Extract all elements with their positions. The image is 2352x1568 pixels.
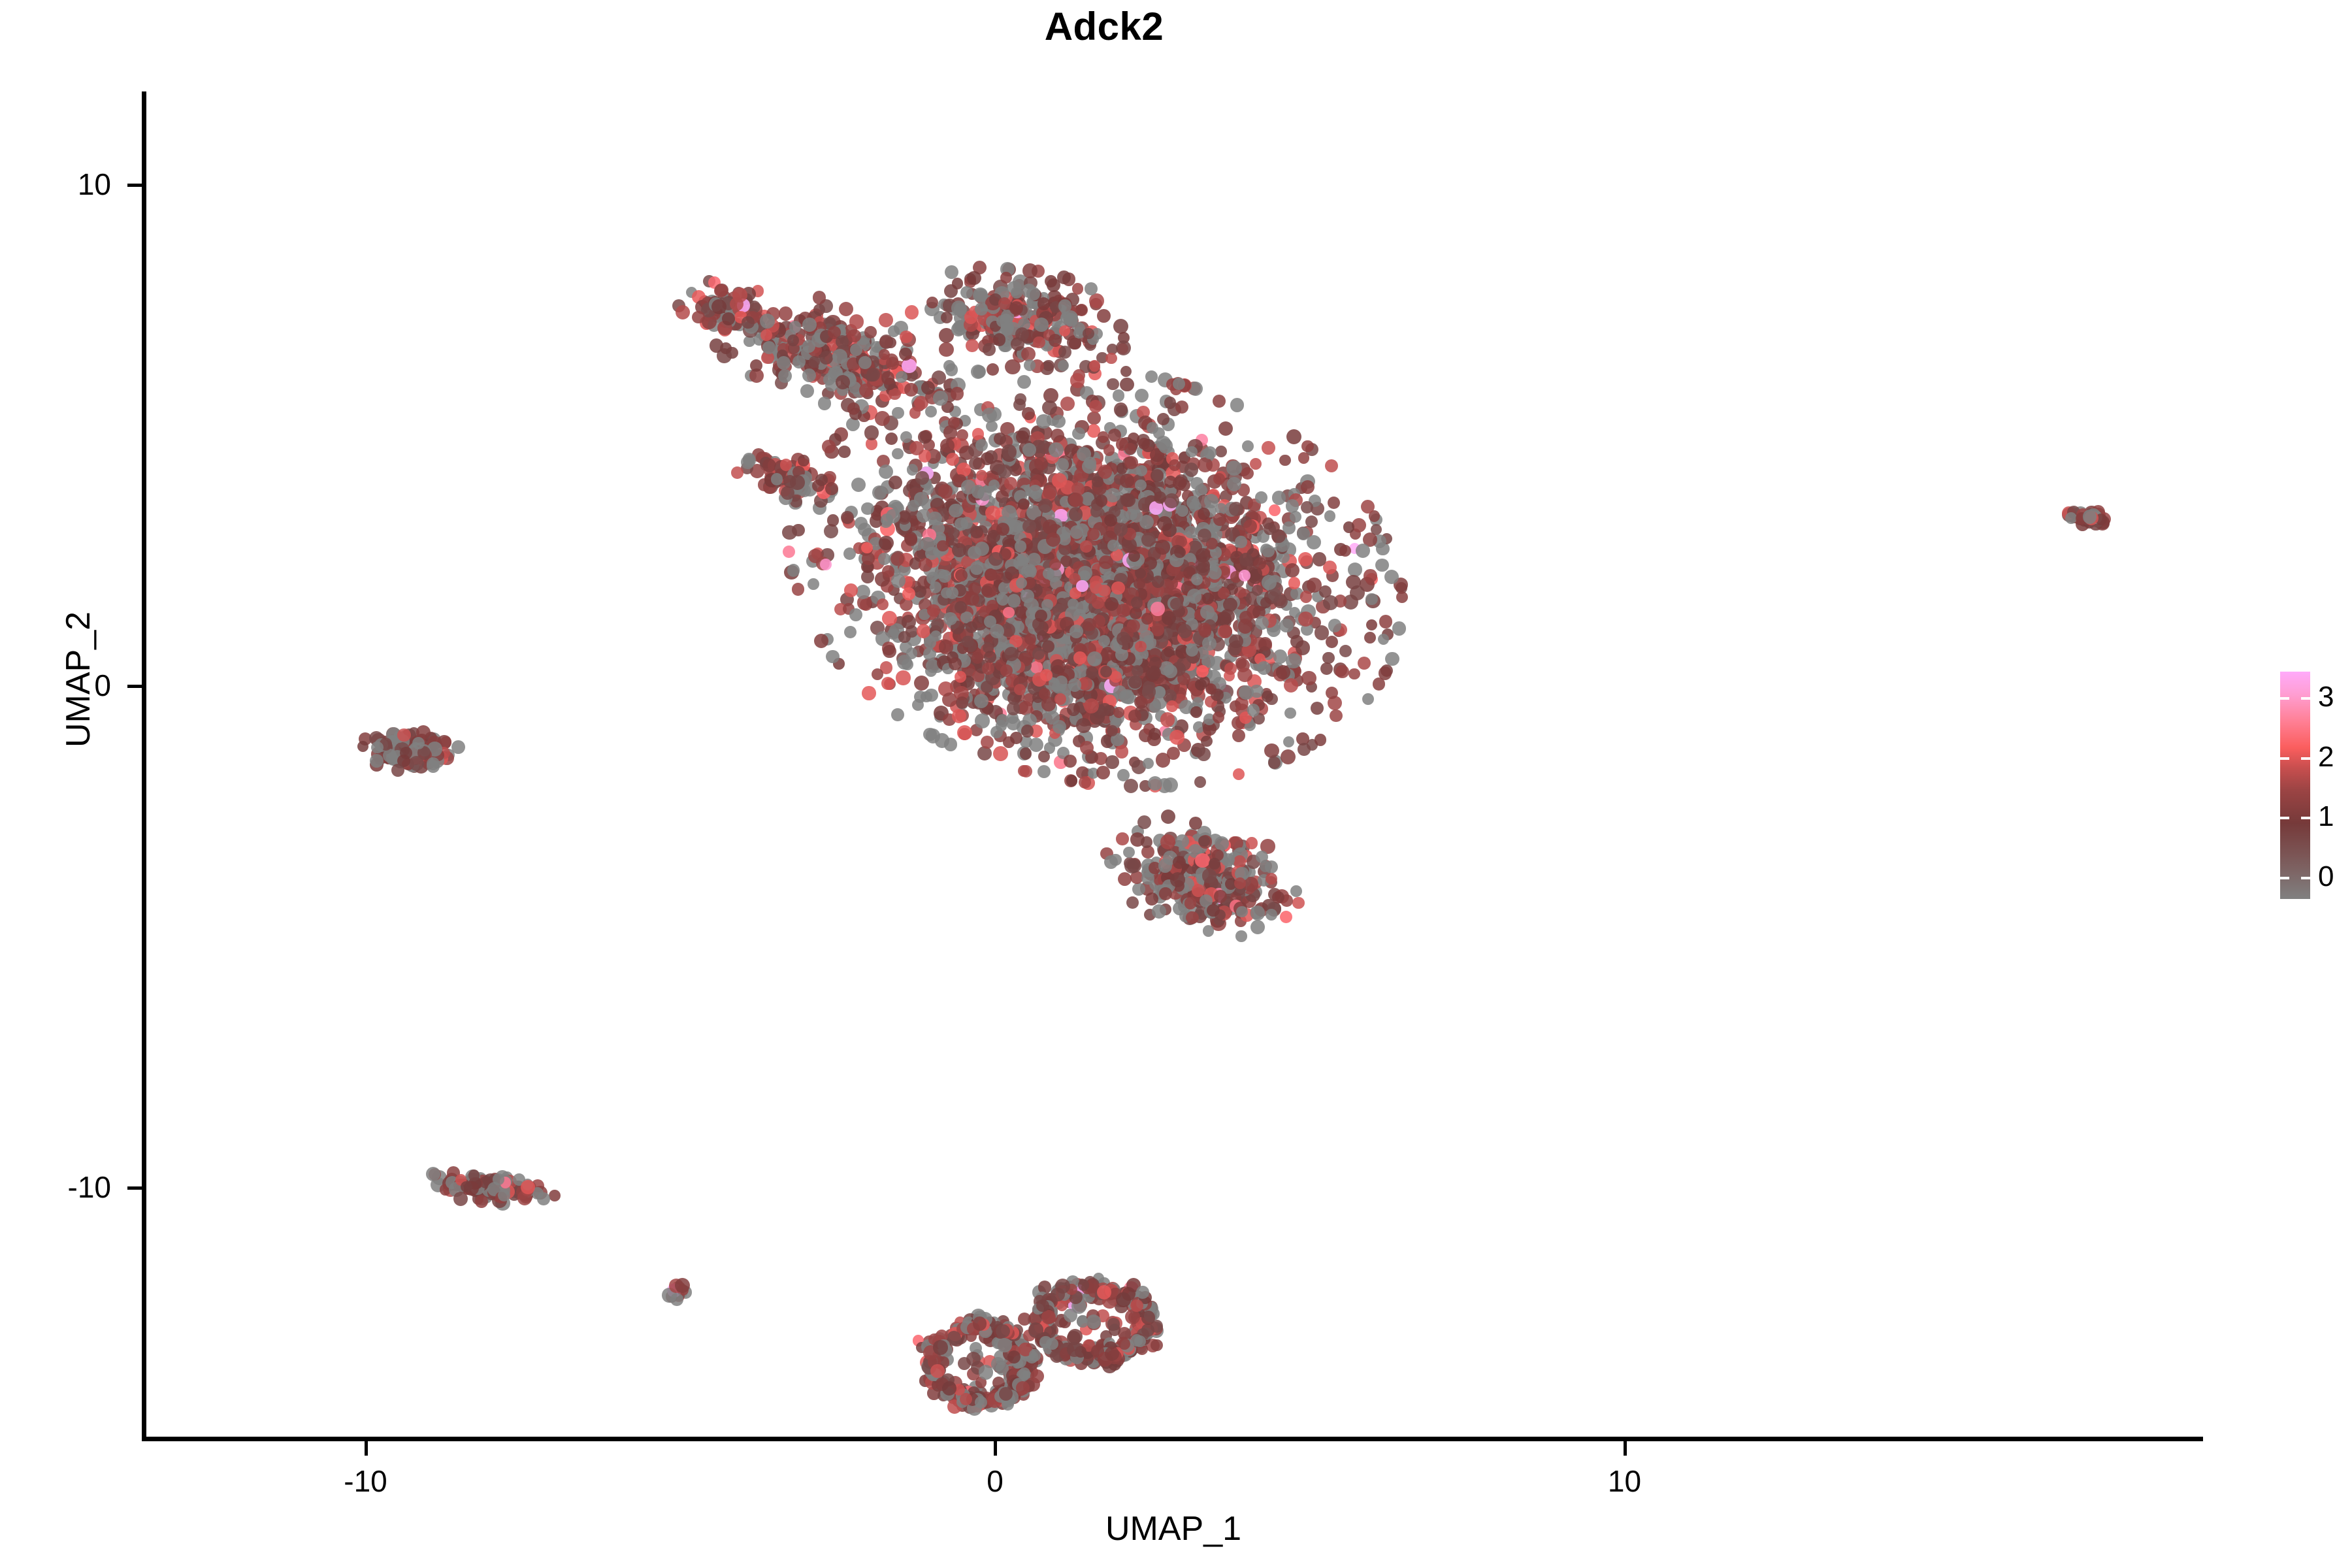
scatter-point	[1058, 360, 1069, 371]
scatter-point	[847, 329, 860, 342]
scatter-point	[1285, 563, 1299, 578]
plot-panel	[144, 91, 2203, 1441]
scatter-point	[1366, 619, 1377, 630]
scatter-point	[1137, 815, 1151, 829]
scatter-point	[827, 514, 839, 526]
scatter-point	[1301, 501, 1313, 514]
scatter-point	[1107, 378, 1119, 390]
scatter-point	[891, 708, 904, 721]
scatter-point	[812, 480, 825, 492]
scatter-point	[1067, 703, 1080, 716]
scatter-point	[1089, 360, 1101, 372]
scatter-point	[1022, 519, 1036, 533]
scatter-point	[790, 475, 805, 490]
scatter-point	[1003, 607, 1015, 619]
scatter-point	[1049, 334, 1062, 347]
umap-feature-plot: Adck2 -10010-10010 UMAP_2 UMAP_1 3210	[0, 0, 2352, 1568]
scatter-point	[855, 517, 868, 530]
scatter-point	[955, 569, 968, 581]
scatter-point	[1028, 485, 1043, 499]
scatter-point	[1279, 619, 1293, 632]
scatter-point	[1315, 734, 1327, 746]
scatter-point	[938, 484, 953, 498]
scatter-point	[1200, 605, 1215, 619]
scatter-point	[789, 321, 801, 333]
scatter-point	[909, 407, 921, 419]
scatter-point	[1262, 575, 1277, 590]
scatter-point	[931, 618, 943, 630]
scatter-point	[778, 369, 792, 383]
scatter-point	[822, 440, 836, 453]
scatter-point	[917, 509, 930, 523]
scatter-point	[914, 585, 926, 598]
scatter-point	[1339, 645, 1352, 657]
scatter-point	[1356, 544, 1371, 559]
scatter-point	[899, 348, 912, 361]
scatter-point	[1286, 429, 1301, 444]
scatter-point	[883, 645, 896, 659]
scatter-point	[838, 446, 850, 457]
scatter-point	[900, 331, 913, 344]
scatter-point	[1217, 612, 1232, 627]
scatter-point	[1288, 577, 1301, 589]
scatter-point	[1202, 593, 1214, 604]
scatter-point	[961, 480, 975, 494]
scatter-point	[1358, 657, 1371, 670]
scatter-point	[808, 578, 819, 590]
scatter-point	[975, 302, 988, 316]
scatter-point	[1116, 438, 1128, 450]
scatter-point	[1215, 446, 1227, 457]
scatter-point	[1058, 346, 1071, 359]
scatter-point	[941, 312, 953, 323]
scatter-point	[1141, 613, 1153, 625]
scatter-point	[1097, 309, 1111, 323]
scatter-point	[1083, 618, 1096, 632]
scatter-point	[1269, 504, 1281, 516]
scatter-point	[1111, 581, 1124, 595]
scatter-point	[1045, 711, 1059, 725]
scatter-point	[1072, 283, 1083, 294]
scatter-point	[957, 725, 972, 740]
scatter-point	[926, 297, 938, 308]
scatter-point	[1190, 706, 1202, 718]
scatter-point	[1271, 529, 1286, 544]
scatter-point	[1281, 749, 1296, 764]
scatter-point	[1089, 400, 1102, 413]
scatter-point	[1154, 491, 1166, 504]
scatter-point	[1014, 684, 1025, 695]
scatter-point	[1131, 596, 1143, 609]
scatter-point	[1090, 506, 1102, 517]
scatter-point	[905, 305, 919, 319]
scatter-point	[1052, 415, 1065, 428]
scatter-point	[1036, 414, 1051, 429]
scatter-point	[1068, 678, 1082, 692]
scatter-point	[879, 335, 894, 349]
scatter-point	[1135, 389, 1149, 402]
scatter-point	[783, 546, 795, 558]
scatter-point	[943, 425, 958, 440]
scatter-point	[1328, 497, 1340, 509]
scatter-point	[1348, 668, 1360, 680]
scatter-point	[802, 318, 817, 332]
scatter-point	[1298, 743, 1311, 756]
scatter-point	[1273, 649, 1287, 663]
scatter-point	[841, 511, 854, 524]
scatter-point	[1066, 775, 1077, 786]
scatter-point	[987, 363, 999, 376]
scatter-point	[1279, 455, 1290, 466]
scatter-point	[802, 340, 815, 353]
scatter-point	[1246, 837, 1258, 849]
scatter-point	[1070, 625, 1083, 638]
scatter-point	[1339, 545, 1351, 557]
scatter-point	[933, 391, 947, 405]
scatter-point	[1330, 710, 1342, 722]
scatter-point	[1098, 431, 1109, 443]
scatter-point	[1300, 591, 1313, 603]
scatter-point	[872, 668, 883, 680]
scatter-point	[1105, 597, 1119, 611]
scatter-point	[930, 581, 941, 593]
scatter-point	[939, 342, 954, 357]
scatter-point	[875, 411, 890, 426]
scatter-point	[1396, 591, 1408, 603]
scatter-point	[966, 339, 979, 352]
scatter-point	[969, 457, 982, 470]
scatter-point	[921, 381, 935, 395]
scatter-point	[1232, 729, 1245, 742]
scatter-point	[1015, 540, 1026, 552]
scatter-point	[1297, 527, 1310, 540]
scatter-point	[1051, 659, 1066, 674]
scatter-point	[849, 608, 862, 621]
scatter-point	[993, 333, 1005, 346]
scatter-point	[1166, 700, 1178, 712]
scatter-point	[993, 746, 1008, 761]
scatter-point	[981, 736, 994, 749]
scatter-point	[1052, 473, 1067, 488]
scatter-point	[960, 286, 973, 299]
scatter-point	[962, 636, 973, 647]
scatter-point	[890, 552, 904, 566]
scatter-point	[975, 713, 989, 728]
scatter-point	[1186, 496, 1199, 508]
scatter-point	[1117, 604, 1130, 617]
scatter-point	[1262, 441, 1275, 455]
scatter-point	[1060, 397, 1075, 411]
scatter-point	[1021, 725, 1034, 738]
scatter-point	[1004, 647, 1019, 661]
scatter-point	[1379, 615, 1393, 629]
scatter-point	[982, 408, 997, 423]
scatter-point	[945, 363, 958, 376]
scatter-point	[714, 284, 727, 297]
scatter-point	[1163, 777, 1178, 792]
scatter-point	[1043, 485, 1057, 499]
scatter-point	[996, 315, 1009, 327]
scatter-point	[1194, 776, 1206, 788]
scatter-point	[885, 433, 898, 445]
scatter-point	[844, 626, 857, 638]
scatter-point	[1237, 668, 1252, 683]
scatter-point	[839, 302, 853, 316]
scatter-point	[1045, 275, 1057, 287]
scatter-point	[1284, 708, 1296, 719]
scatter-point	[949, 504, 962, 517]
scatter-point	[1284, 678, 1298, 693]
scatter-point	[1208, 566, 1222, 580]
scatter-point	[1113, 389, 1124, 401]
scatter-point	[1100, 666, 1112, 678]
scatter-point	[882, 611, 897, 626]
scatter-point	[792, 583, 805, 596]
scatter-point	[1087, 651, 1102, 666]
scatter-point	[1135, 641, 1146, 652]
scatter-point	[900, 431, 913, 444]
scatter-point	[1364, 569, 1377, 582]
scatter-point	[1365, 593, 1377, 605]
scatter-point	[1113, 319, 1128, 334]
scatter-point	[813, 291, 826, 304]
scatter-point	[1213, 395, 1226, 408]
scatter-point	[1178, 624, 1192, 638]
scatter-point	[1174, 547, 1185, 558]
scatter-point	[1055, 676, 1068, 688]
scatter-point	[1076, 718, 1091, 733]
scatter-point	[862, 552, 875, 565]
scatter-point	[1226, 461, 1241, 476]
scatter-point	[851, 478, 866, 492]
scatter-point	[1105, 353, 1117, 364]
scatter-point	[1076, 580, 1088, 592]
scatter-point	[802, 368, 816, 382]
scatter-points-layer	[144, 91, 2203, 1441]
scatter-point	[1083, 328, 1094, 339]
scatter-point	[1296, 640, 1310, 655]
scatter-point	[1160, 712, 1175, 727]
scatter-point	[1324, 510, 1335, 521]
scatter-point	[750, 359, 762, 372]
scatter-point	[904, 383, 918, 397]
scatter-point	[1064, 755, 1077, 768]
scatter-point	[1092, 476, 1103, 488]
scatter-point	[820, 559, 832, 570]
scatter-point	[983, 343, 995, 355]
scatter-point	[1038, 751, 1050, 762]
scatter-point	[1241, 467, 1254, 480]
scatter-point	[1051, 429, 1064, 442]
scatter-point	[1120, 366, 1132, 377]
scatter-point	[850, 344, 862, 356]
scatter-point	[1197, 747, 1211, 761]
scatter-point	[1119, 689, 1134, 704]
scatter-point	[1186, 446, 1198, 458]
scatter-point	[1255, 491, 1267, 504]
scatter-point	[970, 526, 983, 539]
scatter-point	[1034, 457, 1048, 470]
scatter-point	[1335, 665, 1348, 678]
scatter-point	[1032, 647, 1045, 660]
scatter-point	[1218, 421, 1233, 436]
scatter-point	[1107, 540, 1119, 551]
scatter-point	[1084, 698, 1099, 713]
scatter-point	[849, 314, 864, 329]
scatter-point	[1004, 477, 1017, 490]
scatter-point	[975, 439, 988, 451]
scatter-point	[1087, 412, 1101, 425]
scatter-point	[1086, 666, 1098, 679]
scatter-point	[1350, 585, 1365, 600]
scatter-point	[914, 676, 929, 691]
scatter-point	[1007, 702, 1021, 715]
scatter-point	[1143, 758, 1154, 769]
scatter-point	[949, 657, 962, 670]
scatter-point	[1120, 378, 1134, 391]
scatter-point	[985, 569, 996, 581]
scatter-point	[981, 681, 993, 693]
scatter-point	[864, 425, 879, 440]
scatter-point	[1175, 400, 1188, 414]
scatter-point	[1298, 452, 1309, 463]
scatter-point	[1089, 293, 1104, 308]
scatter-point	[1069, 493, 1083, 507]
scatter-point	[1147, 666, 1161, 680]
scatter-point	[1135, 480, 1147, 491]
scatter-point	[921, 691, 932, 703]
scatter-point	[1105, 755, 1119, 768]
scatter-point	[814, 634, 828, 648]
scatter-point	[970, 561, 984, 575]
scatter-point	[889, 476, 902, 489]
scatter-point	[1000, 664, 1013, 677]
scatter-point	[1276, 665, 1290, 679]
scatter-point	[1115, 745, 1129, 759]
scatter-point	[898, 631, 910, 643]
scatter-point	[1153, 427, 1165, 439]
scatter-point	[1116, 340, 1131, 355]
page-title: Adck2	[0, 4, 2208, 49]
scatter-point	[1033, 336, 1045, 349]
scatter-point	[1173, 378, 1185, 390]
scatter-point	[1203, 446, 1217, 459]
scatter-point	[1392, 621, 1407, 636]
scatter-point	[1364, 632, 1376, 644]
scatter-point	[1018, 498, 1029, 510]
scatter-point	[843, 547, 856, 560]
scatter-point	[1229, 502, 1243, 516]
scatter-point	[1080, 741, 1094, 755]
scatter-point	[1152, 576, 1164, 588]
scatter-point	[1313, 552, 1326, 566]
scatter-point	[952, 709, 966, 723]
scatter-point	[1128, 550, 1140, 562]
scatter-point	[1167, 747, 1180, 760]
scatter-point	[1024, 565, 1036, 577]
scatter-point	[1290, 511, 1302, 523]
scatter-point	[861, 542, 872, 553]
scatter-point	[1037, 297, 1050, 310]
scatter-point	[1064, 313, 1077, 326]
scatter-point	[1298, 612, 1313, 627]
scatter-point	[819, 351, 833, 365]
scatter-point	[886, 509, 900, 523]
scatter-point	[771, 473, 783, 485]
scatter-point	[1037, 765, 1051, 778]
scatter-point	[1155, 540, 1169, 554]
scatter-point	[925, 406, 937, 417]
scatter-point	[711, 299, 727, 314]
scatter-point	[1120, 474, 1134, 488]
scatter-point	[1187, 589, 1202, 604]
scatter-point	[951, 387, 964, 400]
scatter-point	[1301, 671, 1316, 686]
scatter-point	[741, 455, 755, 469]
scatter-point	[787, 335, 799, 346]
scatter-point	[1343, 521, 1355, 533]
scatter-point	[1213, 711, 1224, 723]
scatter-point	[940, 438, 955, 453]
scatter-point	[1320, 662, 1333, 675]
scatter-point	[967, 271, 981, 285]
scatter-point	[1375, 559, 1388, 572]
scatter-point	[742, 316, 755, 329]
scatter-point	[1254, 557, 1266, 570]
scatter-point	[1323, 595, 1338, 610]
scatter-point	[731, 466, 743, 479]
scatter-point	[864, 326, 877, 338]
scatter-point	[1373, 678, 1386, 691]
scatter-point	[892, 448, 904, 460]
scatter-point	[1022, 443, 1036, 457]
scatter-point	[1011, 287, 1022, 299]
scatter-point	[881, 371, 894, 384]
scatter-point	[937, 540, 948, 551]
scatter-point	[1124, 456, 1138, 470]
scatter-point	[1325, 459, 1338, 472]
scatter-point	[945, 265, 958, 279]
scatter-point	[1177, 505, 1188, 517]
scatter-point	[1233, 768, 1245, 781]
scatter-point	[1305, 515, 1318, 528]
scatter-point	[1049, 442, 1064, 457]
scatter-point	[1286, 653, 1301, 668]
scatter-point	[844, 583, 858, 597]
scatter-point	[1328, 619, 1341, 632]
scatter-point	[787, 564, 800, 577]
scatter-point	[1164, 397, 1177, 409]
scatter-point	[981, 452, 994, 465]
scatter-point	[1170, 598, 1183, 610]
scatter-point	[994, 433, 1006, 445]
scatter-point	[1151, 602, 1164, 615]
scatter-point	[1017, 375, 1031, 389]
scatter-point	[1058, 299, 1071, 312]
scatter-point	[927, 604, 939, 617]
scatter-point	[1268, 757, 1281, 769]
scatter-point	[1020, 765, 1032, 777]
scatter-point	[1046, 532, 1060, 547]
scatter-point	[1157, 516, 1172, 531]
scatter-point	[862, 686, 875, 700]
scatter-point	[877, 598, 889, 610]
scatter-point	[1141, 532, 1156, 547]
scatter-point	[676, 305, 690, 319]
scatter-point	[692, 311, 704, 323]
scatter-point	[896, 670, 910, 685]
scatter-point	[1238, 619, 1253, 634]
